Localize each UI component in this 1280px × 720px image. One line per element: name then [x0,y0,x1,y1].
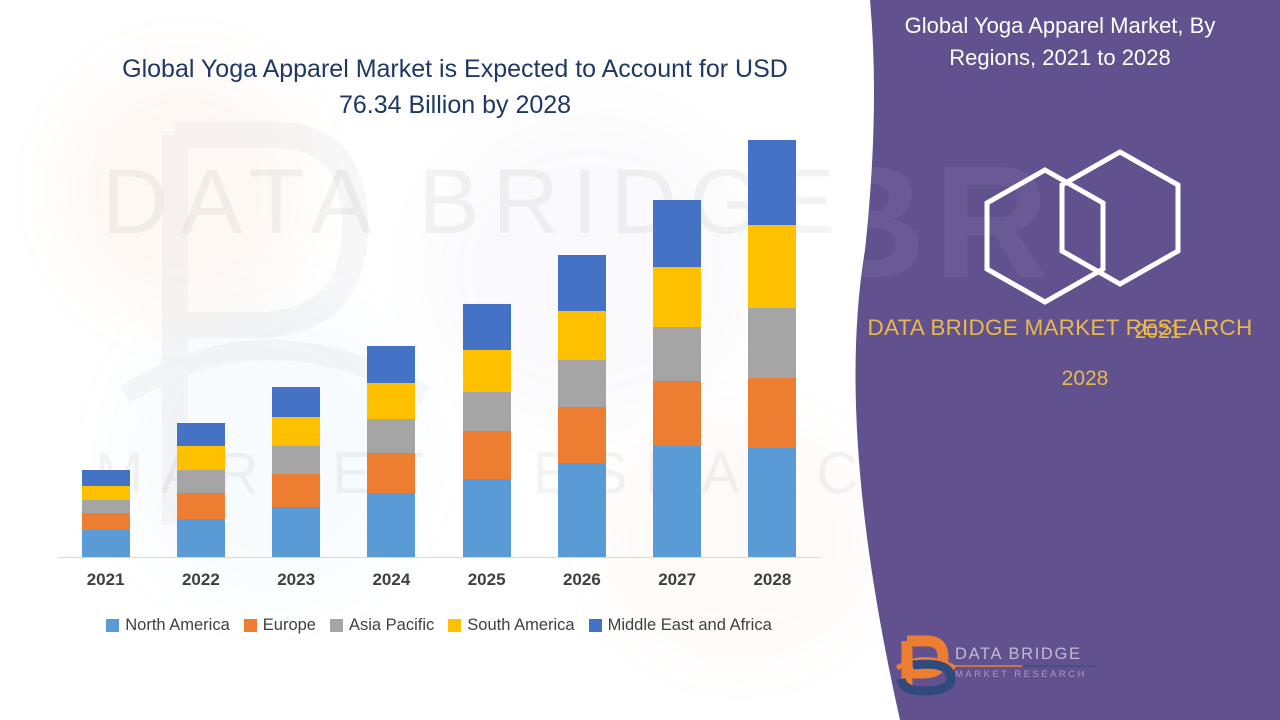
bar-segment[interactable] [558,463,606,557]
panel-title: Global Yoga Apparel Market, By Regions, … [860,10,1260,74]
bar-segment[interactable] [177,470,225,493]
bar-segment[interactable] [748,378,796,448]
company-logo-text: DATA BRIDGE MARKET RESEARCH [955,645,1105,680]
bar-segment[interactable] [367,346,415,383]
x-axis-label: 2021 [58,570,153,590]
bar-segment[interactable] [653,446,701,557]
infographic-root: DATA BRIDGE MARKET RESEARCH Global Yoga … [0,0,1280,720]
bar-column [153,120,248,557]
legend-swatch [244,619,257,632]
bar-segment[interactable] [463,392,511,431]
bar-segment[interactable] [367,383,415,419]
legend-label: Europe [263,616,316,635]
legend-swatch [330,619,343,632]
bar-segment[interactable] [558,255,606,311]
bar-segment[interactable] [463,431,511,479]
right-panel: BR Global Yoga Apparel Market, By Region… [840,0,1280,720]
bar-column [344,120,439,557]
panel-brand-name: DATA BRIDGE MARKET RESEARCH [860,312,1260,345]
bar-segment[interactable] [463,479,511,557]
x-axis-label: 2025 [439,570,534,590]
bar-segment[interactable] [748,140,796,225]
bar-segment[interactable] [177,423,225,446]
bar-column [58,120,153,557]
x-axis-label: 2027 [630,570,725,590]
bar-segment[interactable] [558,407,606,463]
bar-segment[interactable] [82,530,130,557]
bar-segment[interactable] [558,311,606,360]
bar-segment[interactable] [177,519,225,557]
bar-segment[interactable] [463,304,511,350]
bar-segment[interactable] [272,417,320,446]
bar-stack[interactable] [463,304,511,557]
bar-segment[interactable] [558,360,606,407]
bar-stack[interactable] [558,255,606,557]
bar-stack[interactable] [82,470,130,557]
hexagon-label-second: 2028 [1040,367,1130,391]
hexagon-group: 2021 2028 [940,148,1260,308]
legend-label: South America [467,616,574,635]
x-axis-label: 2023 [249,570,344,590]
bar-segment[interactable] [367,493,415,557]
legend-label: Middle East and Africa [608,616,772,635]
logo-divider [955,665,1096,667]
x-axis-label: 2028 [725,570,820,590]
bar-segment[interactable] [367,453,415,493]
bar-segment[interactable] [82,500,130,514]
x-axis-labels: 20212022202320242025202620272028 [58,570,820,590]
bar-segment[interactable] [748,308,796,377]
panel-shape [840,0,1280,720]
legend-item[interactable]: Europe [244,616,316,635]
legend-swatch [589,619,602,632]
logo-text-primary: DATA BRIDGE [955,645,1105,664]
bar-segment[interactable] [653,327,701,382]
legend-label: North America [125,616,230,635]
legend-swatch [106,619,119,632]
x-axis-line [58,557,820,558]
bar-segment[interactable] [653,267,701,327]
bar-column [249,120,344,557]
bar-segment[interactable] [177,493,225,519]
legend-item[interactable]: South America [448,616,574,635]
bar-segment[interactable] [177,446,225,469]
legend-swatch [448,619,461,632]
bar-column [534,120,629,557]
bar-stack[interactable] [748,140,796,557]
bar-column [630,120,725,557]
bar-stack[interactable] [177,423,225,557]
bar-column [439,120,534,557]
bar-segment[interactable] [653,200,701,267]
bar-segment[interactable] [272,507,320,557]
bar-segment[interactable] [748,225,796,308]
bar-stack[interactable] [367,346,415,557]
bar-segment[interactable] [82,513,130,530]
legend-label: Asia Pacific [349,616,434,635]
bar-segment[interactable] [82,470,130,486]
bar-segment[interactable] [272,474,320,507]
bar-column [725,120,820,557]
chart-container: 20212022202320242025202620272028 North A… [0,0,860,720]
x-axis-label: 2022 [153,570,248,590]
bar-segment[interactable] [367,419,415,453]
bar-stack[interactable] [653,200,701,557]
hexagon-icon [940,148,1260,308]
bar-group [58,120,820,557]
chart-legend: North AmericaEuropeAsia PacificSouth Ame… [58,616,820,635]
bar-stack[interactable] [272,387,320,557]
legend-item[interactable]: North America [106,616,230,635]
legend-item[interactable]: Middle East and Africa [589,616,772,635]
logo-text-secondary: MARKET RESEARCH [955,669,1105,680]
bar-segment[interactable] [748,448,796,557]
x-axis-label: 2026 [534,570,629,590]
bar-segment[interactable] [82,486,130,500]
bar-segment[interactable] [272,387,320,417]
x-axis-label: 2024 [344,570,439,590]
legend-item[interactable]: Asia Pacific [330,616,434,635]
bar-segment[interactable] [272,446,320,474]
bar-segment[interactable] [463,350,511,392]
bar-segment[interactable] [653,381,701,446]
